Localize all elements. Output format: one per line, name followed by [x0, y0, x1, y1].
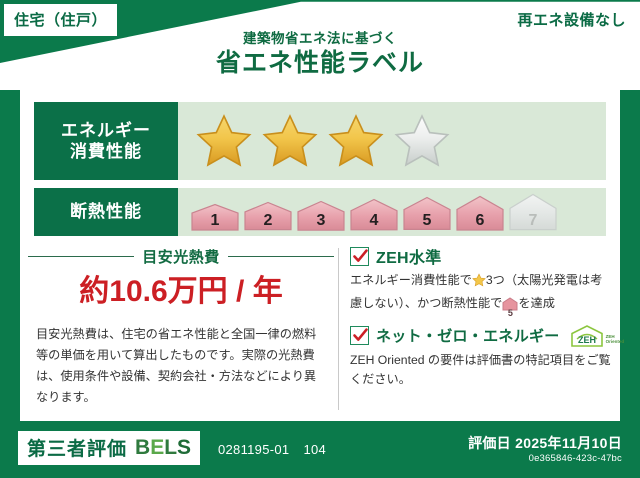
evaluation-date-label: 評価日	[468, 435, 511, 451]
insulation-grade-filled: 6	[455, 195, 505, 231]
star-filled-icon	[196, 113, 252, 169]
zeh-standard-header: ZEH水準	[350, 244, 614, 268]
star-filled-icon	[328, 113, 384, 169]
inline-grade-number: 5	[502, 309, 518, 318]
utility-cost-value: 約10.6万円 / 年	[28, 275, 334, 308]
net-zero-energy-header: ネット・ゼロ・エネルギー ZEH ZEH Oriented	[350, 324, 614, 348]
insulation-grade-filled: 5	[402, 196, 452, 230]
insulation-grade-empty: 7	[508, 193, 558, 231]
rule-right	[228, 256, 334, 257]
certificate-number: 0281195-01104	[218, 442, 326, 457]
inline-star-icon	[472, 276, 486, 290]
energy-performance-label-line2: 消費性能	[70, 141, 142, 162]
certificate-number-main: 0281195-01	[218, 442, 289, 457]
insulation-grade-filled: 1	[190, 203, 240, 231]
zeh-column: ZEH水準 エネルギー消費性能で3つ（太陽光発電は考慮しない）、かつ断熱性能で5…	[350, 244, 614, 396]
evaluation-date: 評価日 2025年11月10日	[468, 433, 622, 453]
footer-bar: 第三者評価 BELS 0281195-01104 評価日 2025年11月10日…	[0, 421, 640, 478]
insulation-performance-row: 断熱性能 1234567	[34, 188, 606, 236]
bels-letter-s: S	[177, 436, 191, 459]
svg-text:ZEH: ZEH	[578, 335, 596, 345]
net-zero-energy-item: ネット・ゼロ・エネルギー ZEH ZEH Oriented ZEH Ori	[350, 324, 614, 391]
insulation-grade-scale: 1234567	[178, 193, 558, 231]
insulation-performance-body: 1234567	[178, 188, 606, 236]
building-type-tag: 住宅（住戸）	[4, 4, 117, 36]
net-zero-energy-title: ネット・ゼロ・エネルギー	[376, 325, 560, 346]
bels-letter-e: E	[150, 436, 164, 459]
zeh-oriented-logo-subtext: ZEH Oriented	[606, 335, 625, 348]
renewable-equipment-tag: 再エネ設備なし	[507, 4, 636, 36]
utility-cost-column: 目安光熱費 約10.6万円 / 年 目安光熱費は、住宅の省エネ性能と全国一律の燃…	[28, 244, 334, 408]
bels-letter-b: B	[135, 436, 150, 459]
insulation-grade-filled: 3	[296, 200, 346, 231]
details-section: 目安光熱費 約10.6万円 / 年 目安光熱費は、住宅の省エネ性能と全国一律の燃…	[20, 244, 620, 419]
evaluation-uuid: 0e365846-423c-47bc	[529, 453, 622, 464]
third-party-evaluation-label: 第三者評価	[27, 434, 127, 461]
title-block: 建築物省エネ法に基づく 省エネ性能ラベル	[0, 32, 640, 79]
zeh-desc-pre: エネルギー消費性能で	[350, 273, 472, 287]
net-zero-energy-description: ZEH Oriented の要件は評価書の特記項目をご覧ください。	[350, 351, 614, 391]
insulation-performance-label: 断熱性能	[34, 188, 178, 236]
energy-performance-row: エネルギー 消費性能	[34, 102, 606, 180]
checkbox-checked-icon	[350, 247, 369, 266]
inline-grade-badge: 5	[502, 297, 518, 318]
star-rating	[178, 113, 450, 169]
utility-cost-heading-text: 目安光熱費	[142, 246, 220, 267]
insulation-grade-filled: 2	[243, 201, 293, 231]
insulation-grade-number: 3	[296, 213, 346, 229]
insulation-grade-number: 2	[243, 213, 293, 229]
column-divider	[338, 248, 339, 410]
zeh-standard-title: ZEH水準	[376, 244, 442, 268]
certificate-number-sub: 104	[303, 442, 326, 457]
energy-performance-body	[178, 102, 606, 180]
insulation-grade-number: 5	[402, 213, 452, 229]
zeh-standard-description: エネルギー消費性能で3つ（太陽光発電は考慮しない）、かつ断熱性能で5を達成	[350, 271, 614, 318]
insulation-grade-number: 4	[349, 213, 399, 229]
zeh-standard-item: ZEH水準 エネルギー消費性能で3つ（太陽光発電は考慮しない）、かつ断熱性能で5…	[350, 244, 614, 318]
bels-logo: BELS	[135, 436, 191, 460]
insulation-grade-number: 7	[508, 213, 558, 229]
insulation-grade-filled: 4	[349, 198, 399, 231]
insulation-grade-number: 6	[455, 213, 505, 229]
label-panel: エネルギー 消費性能 断熱性能 1234567 目安光熱費 約10.6万円 / …	[20, 86, 620, 421]
star-empty-icon	[394, 113, 450, 169]
rule-left	[28, 256, 134, 257]
star-filled-icon	[262, 113, 318, 169]
utility-cost-heading: 目安光熱費	[28, 246, 334, 267]
energy-performance-label-line1: エネルギー	[61, 120, 151, 141]
checkbox-checked-icon	[350, 326, 369, 345]
evaluation-date-value: 2025年11月10日	[515, 435, 622, 451]
zeh-oriented-logo-icon: ZEH ZEH Oriented	[570, 324, 625, 348]
page-title: 省エネ性能ラベル	[0, 48, 640, 79]
zeh-logo-sub-line2: Oriented	[606, 339, 625, 344]
energy-performance-label: エネルギー 消費性能	[34, 102, 178, 180]
insulation-grade-number: 1	[190, 213, 240, 229]
bels-letter-l: L	[164, 436, 177, 459]
bels-badge: 第三者評価 BELS	[18, 431, 200, 465]
utility-cost-note: 目安光熱費は、住宅の省エネ性能と全国一律の燃料等の単価を用いて算出したものです。…	[28, 324, 334, 408]
zeh-desc-post: を達成	[518, 296, 555, 310]
